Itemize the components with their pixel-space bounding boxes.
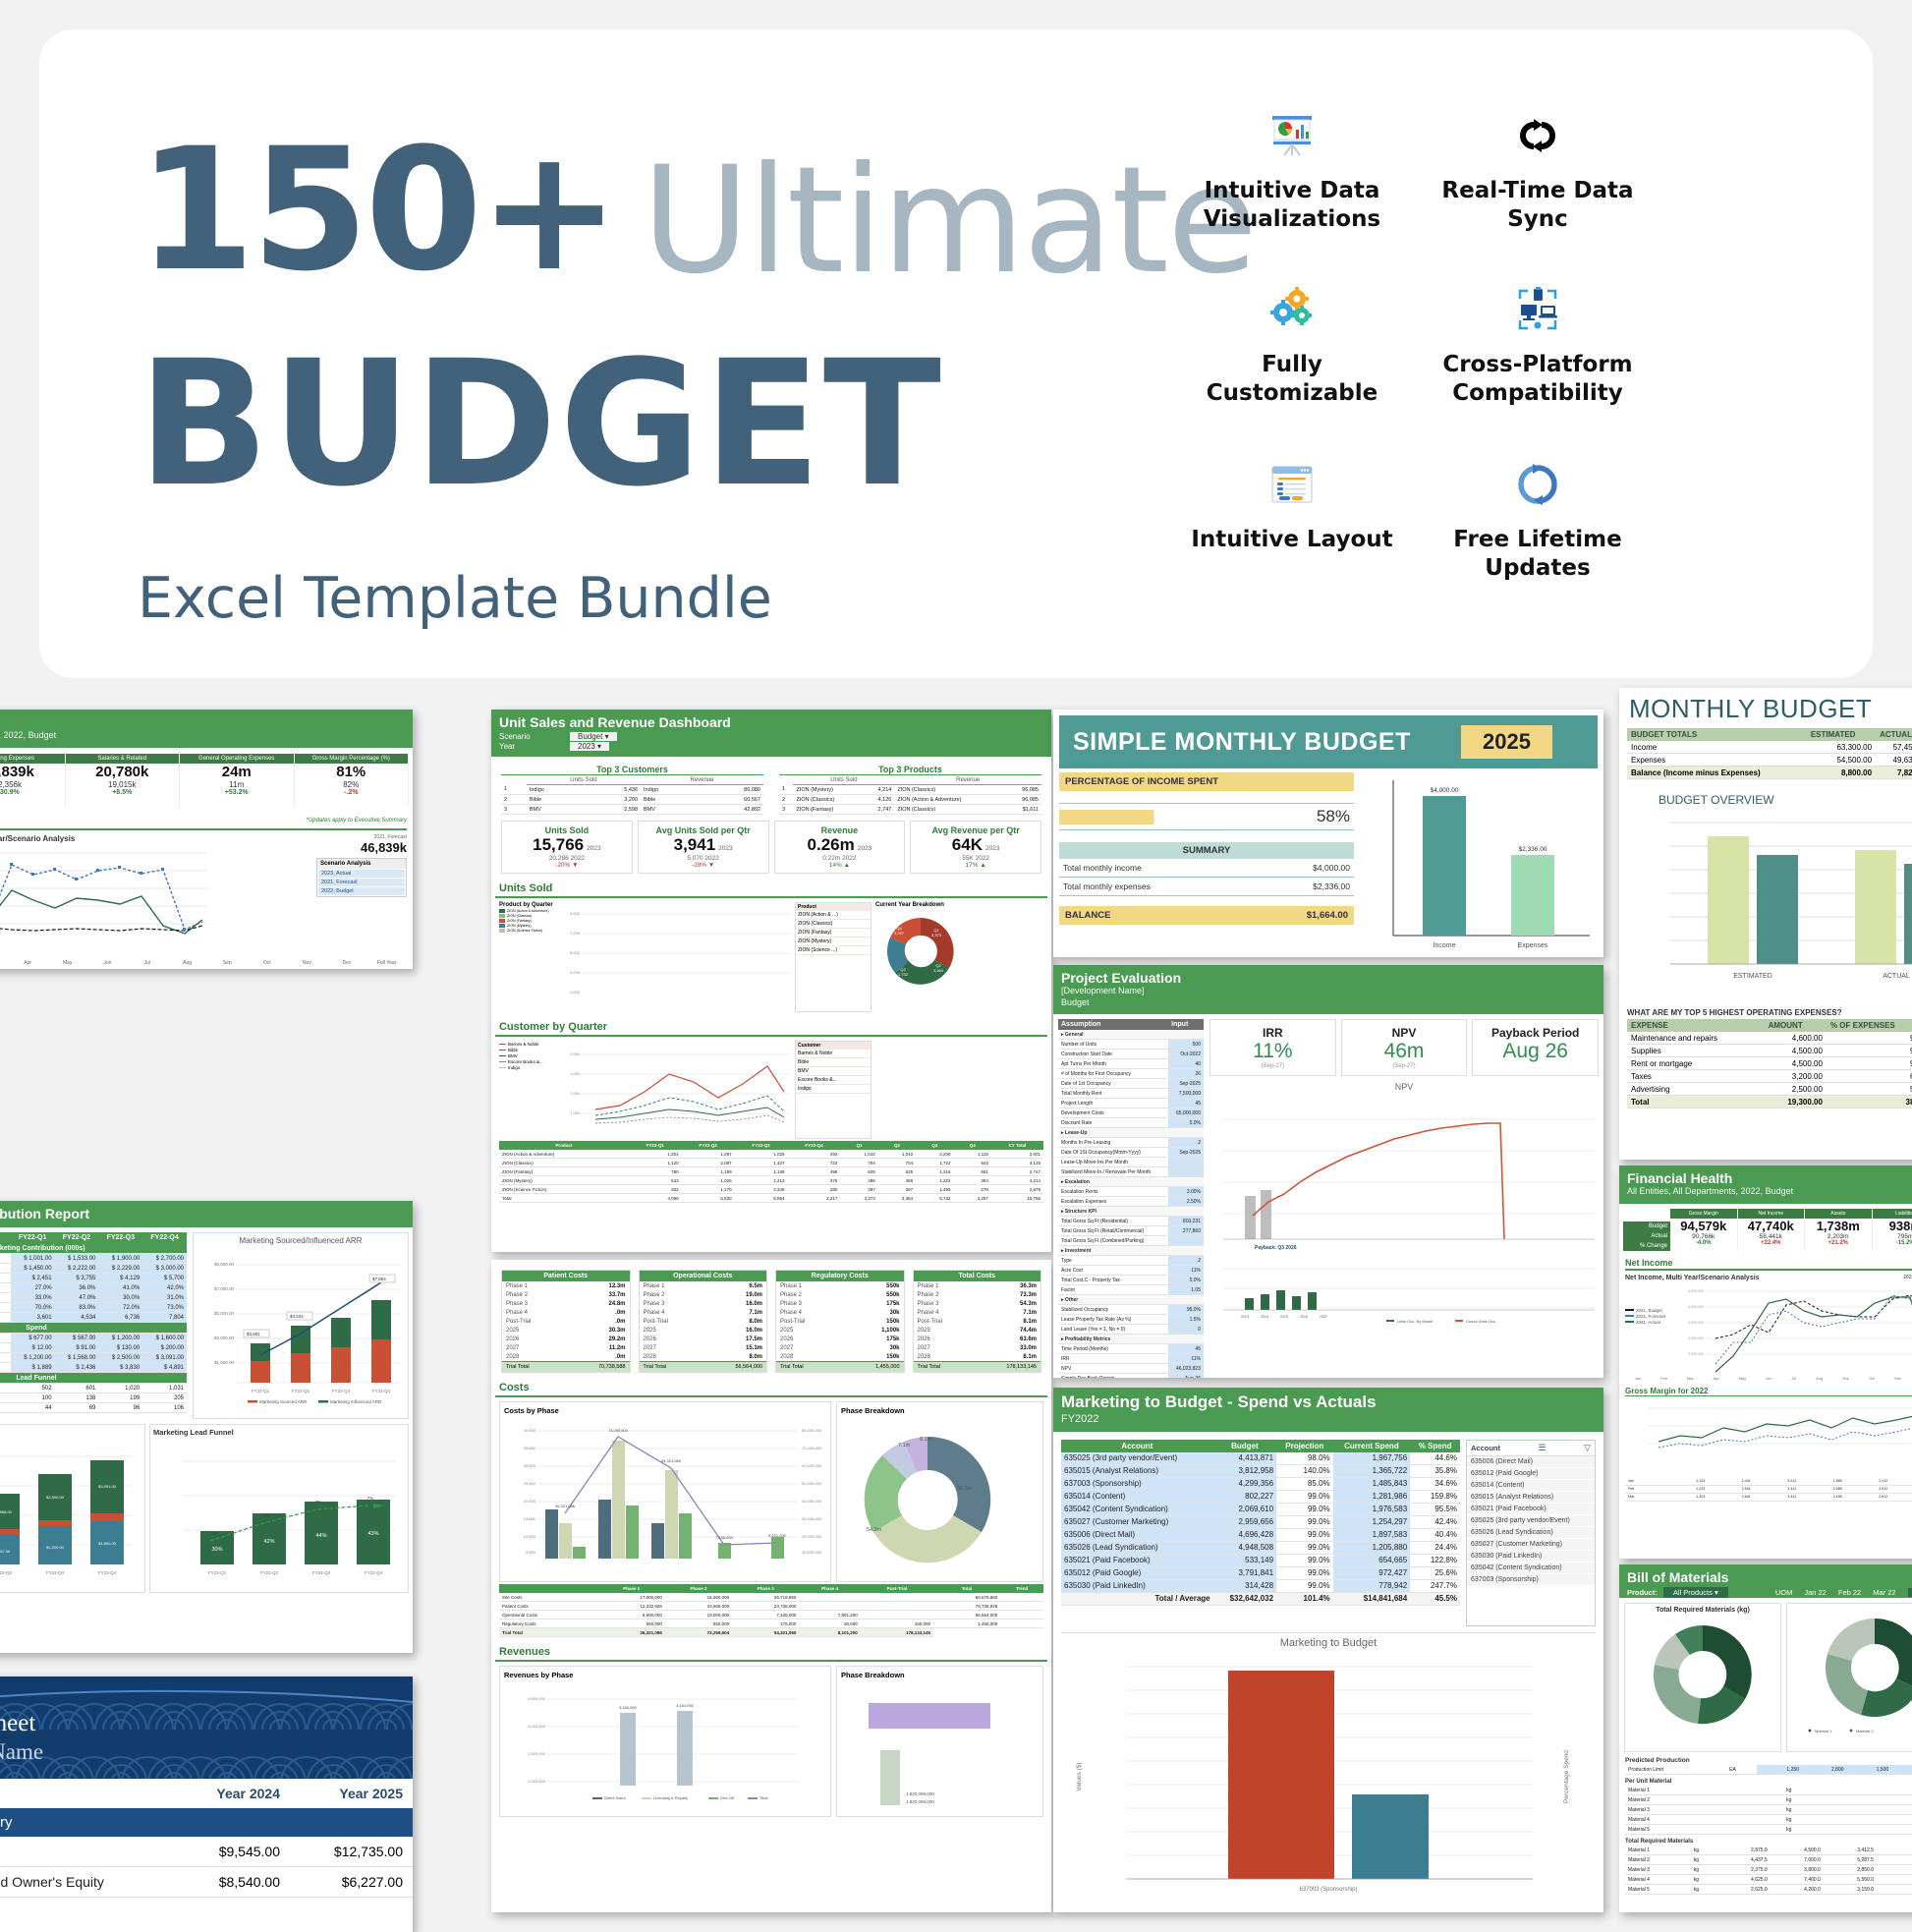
net-income-multi-year-chart: 4,500,0004,000,0003,500,0003,000,0002,50… xyxy=(1676,1281,1912,1376)
cell: 704 xyxy=(878,1159,916,1167)
cell: 8,800.00 xyxy=(1807,767,1876,779)
assumption-input[interactable]: 2 xyxy=(1168,1138,1204,1148)
revenues-by-phase-title: Revenues by Phase xyxy=(504,1671,826,1679)
assumption-input[interactable]: 11% xyxy=(1168,1354,1204,1364)
month-label: Sep xyxy=(1842,1376,1849,1381)
feature-grid: Intuitive Data Visualizations Real-Time … xyxy=(1169,106,1660,617)
assumption-input[interactable]: 65,000,000 xyxy=(1168,1108,1204,1118)
assumption-input[interactable]: Sep-2025 xyxy=(1168,1079,1204,1089)
cell: ZION (Classics) xyxy=(894,805,1005,815)
assumption-group[interactable]: ▸ Lease-Up xyxy=(1058,1128,1204,1138)
slicer-item[interactable]: 635026 (Lead Syndication) xyxy=(1467,1527,1595,1539)
cost-value: 63.6m xyxy=(1020,1336,1037,1342)
scenario-item[interactable]: 2022, Budget xyxy=(318,887,405,895)
cost-value: 150k xyxy=(886,1319,899,1325)
panel-monthly-budget[interactable]: MONTHLY BUDGET BUDGET TOTALSESTIMATEDACT… xyxy=(1619,688,1912,1160)
table-row: Expenses54,500.0049,630.00 xyxy=(1627,754,1912,767)
legend-label: 2021, Actual xyxy=(1636,1320,1660,1325)
cell: 83.0% xyxy=(55,1303,99,1313)
cost-label: 2026 xyxy=(918,1336,930,1342)
cell: 3,412.5 xyxy=(1824,1846,1877,1855)
assumption-label: Project Length xyxy=(1058,1099,1168,1108)
total-label: Trial Total xyxy=(506,1364,530,1370)
cell: 9.1% xyxy=(1827,1057,1912,1070)
kpi-budget: 94,579k xyxy=(1670,1219,1737,1233)
kpi-change: +8.5% xyxy=(66,789,180,796)
table-row: Closed Won Sales446996106 xyxy=(0,1403,187,1413)
product-by-quarter-title: Product by Quarter xyxy=(499,902,566,908)
cell: 4,500.00 xyxy=(1765,1045,1827,1057)
product-filter-list[interactable]: ZION (Action & ...)ZION (Classics)ZION (… xyxy=(796,911,871,955)
assumption-group[interactable]: ▸ Profitability Metrics xyxy=(1058,1335,1204,1344)
svg-text:7,000: 7,000 xyxy=(570,931,581,936)
kpi-actual: 90,766k xyxy=(1670,1233,1737,1240)
table-row: Material 5kg2.10 xyxy=(1625,1825,1912,1835)
assumption-input[interactable] xyxy=(1168,1236,1204,1246)
month-label: Mar xyxy=(0,960,8,966)
cell: 1,365,722 xyxy=(1333,1464,1411,1477)
cell xyxy=(861,1593,933,1602)
svg-text:25,000: 25,000 xyxy=(524,1481,536,1486)
cell: 1,120 xyxy=(629,1159,682,1167)
cost-value: 24.8m xyxy=(608,1301,625,1307)
svg-text:8,101,200: 8,101,200 xyxy=(768,1533,787,1538)
monthly-budget-title: MONTHLY BUDGET xyxy=(1619,688,1912,728)
table-row: Escalation Expenses2.50% xyxy=(1058,1197,1204,1207)
total-value: 1,455,000 xyxy=(875,1364,899,1370)
assumption-input[interactable] xyxy=(1168,1158,1204,1167)
slicer-item[interactable]: 635025 (3rd party vendor/Event) xyxy=(1467,1515,1595,1527)
assumption-input[interactable] xyxy=(1168,1167,1204,1177)
filter-item[interactable]: Escore Books &... xyxy=(796,1076,871,1085)
panel-title: Bill of Materials xyxy=(1627,1569,1912,1585)
assumption-input[interactable]: 0 xyxy=(1168,1325,1204,1335)
cost-value: 6.5m xyxy=(749,1283,762,1289)
cell: 15,766 xyxy=(991,1194,1043,1203)
cost-value: 8.0m xyxy=(749,1354,762,1360)
col-header: FY22-Q1 xyxy=(629,1141,682,1150)
kpi-change: -4.0% xyxy=(1670,1240,1737,1246)
kpi-actual: 32,356k xyxy=(0,780,65,789)
assumption-input[interactable]: 11% xyxy=(1168,1266,1204,1276)
svg-text:5,000: 5,000 xyxy=(570,950,581,955)
cell: kg xyxy=(1691,1865,1717,1875)
cell xyxy=(861,1602,933,1611)
section-spend: Spend xyxy=(0,1323,187,1334)
kpi-column: Assets1,738m2,203m+21.2% xyxy=(1805,1209,1873,1251)
panel-marketing-contribution-report[interactable]: Marketing Contribution Report FY22-Q1FY2… xyxy=(0,1201,413,1653)
cell: 1,495 xyxy=(916,1185,953,1194)
svg-text:30,000: 30,000 xyxy=(524,1463,536,1468)
table-row: Apt Turns Per Month40 xyxy=(1058,1059,1204,1069)
metric-selector[interactable]: Net Income xyxy=(1625,1258,1912,1268)
secondary-materials-donut: Material 1Material 2 xyxy=(1790,1607,1912,1736)
kpi-title: Avg Units Sold per Qtr xyxy=(641,825,766,835)
cell: $ 3,091.00 xyxy=(142,1353,187,1363)
svg-text:54,321,060: 54,321,060 xyxy=(661,1458,682,1463)
kpi-change: -15.2% xyxy=(1873,1240,1912,1246)
cost-label: Phase 2 xyxy=(918,1292,939,1298)
cost-row: 202629.2m xyxy=(502,1335,630,1343)
month-label: Dec xyxy=(327,960,367,966)
legend-swatch xyxy=(499,919,505,923)
cell: 1,281,986 xyxy=(1333,1490,1411,1503)
col-header: Trend xyxy=(1000,1584,1043,1593)
month-label: Jan xyxy=(1635,1376,1641,1381)
assumption-group[interactable]: ▸ Structure KPI xyxy=(1058,1207,1204,1217)
assumption-label: Time Period (Months) xyxy=(1058,1344,1168,1354)
svg-text:FY22-Q2: FY22-Q2 xyxy=(0,1570,13,1575)
cell: 19,000,000 xyxy=(665,1611,732,1619)
cell: 1,222 xyxy=(916,1176,953,1185)
cell: 654,665 xyxy=(1333,1554,1411,1566)
col-quarter: FY22-Q4 xyxy=(142,1232,187,1243)
assumption-input[interactable]: 5.0% xyxy=(1168,1276,1204,1285)
col-header: ACTUAL xyxy=(1876,728,1912,741)
kpi-sub: (Sep-27) xyxy=(1344,1063,1465,1069)
contribution-table[interactable]: FY22-Q1FY22-Q2FY22-Q3FY22-Q4 Marketing C… xyxy=(0,1232,187,1413)
cell: 1,026 xyxy=(682,1176,735,1185)
y2-axis-label: Percentage Spend xyxy=(1563,1750,1570,1803)
svg-text:2026: 2026 xyxy=(1300,1315,1308,1319)
cell: 9.3% xyxy=(1827,1032,1912,1045)
kpi-column: Salaries & Related20,780k19,015k+8.5% xyxy=(66,754,181,807)
cell: 34.6% xyxy=(1410,1477,1460,1490)
panel-project-evaluation[interactable]: Project Evaluation [Development Name] Bu… xyxy=(1053,965,1603,1378)
cell: 843 xyxy=(954,1159,991,1167)
cell-2025: $6,227.00 xyxy=(290,1867,413,1897)
balance-sheet-rows: Total Assets$9,545.00$12,735.00Total Lia… xyxy=(0,1837,413,1898)
cost-row: Post-Trial8.1m xyxy=(914,1317,1041,1326)
svg-text:1,732: 1,732 xyxy=(898,972,909,977)
svg-text:7%: 7% xyxy=(367,1496,374,1501)
scenario-item[interactable]: 2021, Forecast xyxy=(318,879,405,886)
cell: 4,126 xyxy=(991,1159,1043,1167)
panel-unit-sales-dashboard[interactable]: Unit Sales and Revenue Dashboard Scenari… xyxy=(491,710,1051,1252)
month-label: Jun xyxy=(1766,1376,1771,1381)
assumption-label: Stabilized Move-In / Renovate Per Month xyxy=(1058,1167,1168,1177)
table-row: Site Costs17,000,00016,960,00026,719,860… xyxy=(499,1593,1043,1602)
cell: 2,348 xyxy=(735,1185,788,1194)
cell: 42.0% xyxy=(142,1283,187,1293)
svg-text:Marketing Influenced ARR: Marketing Influenced ARR xyxy=(330,1399,382,1404)
cell: 2,800 xyxy=(1802,1765,1847,1775)
cell: 73,259,604 xyxy=(665,1628,732,1637)
cell: 1,138 xyxy=(735,1167,788,1176)
cell: $ 1,900.00 xyxy=(98,1254,142,1264)
cell: 1,026 xyxy=(735,1150,788,1159)
cell: Maintenance and repairs xyxy=(1627,1032,1765,1045)
cost-label: 2026 xyxy=(506,1336,519,1342)
column-header: Feb 22 xyxy=(1838,1588,1861,1597)
table-row: Factor1.05 xyxy=(1058,1285,1204,1295)
scenario-list[interactable]: 2023, Actual2021, Forecast2022, Budget xyxy=(317,870,406,895)
slicer-item[interactable]: 637003 (Sponsorship) xyxy=(1467,1574,1595,1586)
cost-row: 2026175k xyxy=(776,1335,904,1343)
cost-value: 150k xyxy=(886,1354,899,1360)
balance-sheet-col-headers: Year 2024 Year 2025 xyxy=(0,1779,413,1808)
balance-value: $1,664.00 xyxy=(1307,910,1348,921)
svg-text:Material 1: Material 1 xyxy=(1815,1729,1832,1733)
cell: 1,170 xyxy=(682,1185,735,1194)
cell: 99.0% xyxy=(1276,1579,1333,1592)
kpi-budget: 81% xyxy=(295,764,409,780)
kpi-header: Gross Margin xyxy=(1670,1209,1737,1219)
svg-text:Marketing Sourced ARR: Marketing Sourced ARR xyxy=(259,1399,308,1404)
cost-value: .0m xyxy=(615,1319,625,1325)
cell: 36,321,086 xyxy=(598,1628,665,1637)
svg-text:10,000: 10,000 xyxy=(524,1534,536,1539)
svg-text:3,500,000: 3,500,000 xyxy=(528,1696,546,1701)
assumption-input[interactable]: 803,231 xyxy=(1168,1217,1204,1226)
filter-item[interactable]: ZION (Mystery) xyxy=(796,938,871,946)
cell: 643 xyxy=(629,1176,682,1185)
cost-row: 202617.5m xyxy=(640,1335,767,1343)
row-label: Total monthly expenses xyxy=(1063,881,1151,891)
assumption-input[interactable]: 2.50% xyxy=(1168,1197,1204,1207)
col-quarter: FY22-Q3 xyxy=(98,1232,142,1243)
product-dropdown[interactable]: All Products ▾ xyxy=(1663,1587,1728,1598)
kpi-header: Gross Margin Percentage (%) xyxy=(295,754,409,764)
assumption-input[interactable]: 45 xyxy=(1168,1344,1204,1354)
assumption-input[interactable]: 46,023,823 xyxy=(1168,1364,1204,1374)
panel-bill-of-materials[interactable]: Bill of Materials Product: All Products … xyxy=(1619,1564,1912,1912)
filter-item[interactable]: ZION (Action & ...) xyxy=(796,911,871,920)
svg-text:Material 2: Material 2 xyxy=(1856,1729,1874,1733)
cell: 635030 (Paid LinkedIn) xyxy=(1061,1579,1213,1592)
panel-marketing-to-budget[interactable]: Marketing to Budget - Spend vs Actuals F… xyxy=(1053,1388,1603,1912)
kpi-actual: 19,015k xyxy=(66,780,180,789)
scenario-item[interactable]: 2023, Actual xyxy=(318,870,405,878)
cost-value: 8.0m xyxy=(749,1319,762,1325)
cell: 2,747 xyxy=(864,805,894,815)
kpi-value: 11% xyxy=(1212,1040,1333,1063)
svg-text:FY22-Q3: FY22-Q3 xyxy=(332,1389,351,1393)
assumption-input[interactable]: 95.0% xyxy=(1168,1305,1204,1315)
cell: 2.20 xyxy=(1847,1786,1912,1795)
assumption-group[interactable]: ▸ General xyxy=(1058,1030,1204,1040)
cell: kg xyxy=(1783,1825,1847,1835)
row-label: Company New Logo ARR xyxy=(0,1313,11,1323)
cost-label: 2026 xyxy=(780,1336,793,1342)
assumption-input[interactable]: 1.05 xyxy=(1168,1285,1204,1295)
svg-text:4,500,000: 4,500,000 xyxy=(1688,1289,1704,1293)
assumption-input[interactable]: 45 xyxy=(1168,1099,1204,1108)
slicer-item[interactable]: 635021 (Paid Facebook) xyxy=(1467,1504,1595,1515)
assumption-group[interactable]: ▸ Other xyxy=(1058,1295,1204,1305)
costs-by-phase-chart: 40,00035,00030,00025,00020,00015,00010,0… xyxy=(504,1415,826,1572)
cost-label: Phase 1 xyxy=(780,1283,802,1289)
spend-table[interactable]: AccountBudgetProjectionCurrent Spend% Sp… xyxy=(1061,1440,1460,1606)
cell xyxy=(1000,1611,1043,1619)
marketing-lead-funnel-chart: 30%42%44%43% 5%6%7%7% FY22-Q1FY22-Q2FY22… xyxy=(153,1437,399,1584)
assumption-input[interactable]: 40 xyxy=(1168,1059,1204,1069)
cell: 498 xyxy=(788,1167,841,1176)
top-expenses-question: WHAT ARE MY TOP 5 HIGHEST OPERATING EXPE… xyxy=(1627,1008,1912,1017)
product-by-quarter-chart: 9,0007,0005,0003,0001,000 FY22-Q1FY22-Q2… xyxy=(566,902,792,1012)
kpi-actual: 795m xyxy=(1873,1233,1912,1240)
cell: 9.1% xyxy=(1827,1045,1912,1057)
cell: 99.0% xyxy=(1276,1554,1333,1566)
kpi-prev-row: 55K 2022 xyxy=(913,855,1039,862)
panel-financial-health-right[interactable]: Financial Health All Entities, All Depar… xyxy=(1619,1165,1912,1559)
assumption-input[interactable]: Sep-2025 xyxy=(1168,1148,1204,1158)
assumption-input[interactable]: Oct-2022 xyxy=(1168,1050,1204,1059)
cost-label: Post-Trial xyxy=(644,1319,668,1325)
filter-item[interactable]: ZION (Science ...) xyxy=(796,946,871,955)
assumption-label: Development Costs xyxy=(1058,1108,1168,1118)
units-sold-section: Units Sold xyxy=(495,880,1047,898)
svg-text:$4,534: $4,534 xyxy=(290,1314,304,1319)
customer-filter-title[interactable]: Customer xyxy=(796,1042,871,1050)
table-row: Number of Units500 xyxy=(1058,1040,1204,1050)
cell: 99.0% xyxy=(1276,1541,1333,1554)
row-label: Marketing Influenced ARR% xyxy=(0,1293,11,1303)
year-dropdown[interactable]: 2023 ▾ xyxy=(570,742,609,751)
assumption-input[interactable]: 7,500,000 xyxy=(1168,1089,1204,1099)
cell: 3,150.0 xyxy=(1824,1885,1877,1895)
total-required-materials-title: Total Required Materials xyxy=(1625,1839,1912,1845)
assumption-group[interactable]: ▸ Investment xyxy=(1058,1246,1204,1256)
cell: 2,217 xyxy=(788,1194,841,1203)
slicer-item[interactable]: 635027 (Customer Marketing) xyxy=(1467,1539,1595,1551)
chart1-badge: 2021, Forecast xyxy=(1903,1275,1912,1281)
cell: 635012 (Paid Google) xyxy=(1061,1566,1213,1579)
assumption-group[interactable]: ▸ Escalation xyxy=(1058,1177,1204,1187)
col-header: Current Spend xyxy=(1333,1440,1411,1452)
product-filter-title[interactable]: Product xyxy=(796,903,871,911)
table-row: Material 4kg4,625.07,400.05,550.017,575.… xyxy=(1625,1875,1912,1885)
assumption-label: Factor xyxy=(1058,1285,1168,1295)
assumption-label: Apt Turns Per Month xyxy=(1058,1059,1168,1069)
feature-real-time-data-sync: Real-Time Data Sync xyxy=(1415,106,1660,268)
slicer-item[interactable]: 635012 (Paid Google) xyxy=(1467,1468,1595,1480)
scenario-dropdown[interactable]: Budget ▾ xyxy=(570,732,617,741)
cost-label: Phase 1 xyxy=(506,1283,528,1289)
top-customers-title: Top 3 Customers xyxy=(501,765,763,775)
table-row: Date Of 1St Occupancy(Mmm-Yyyy)Sep-2025 xyxy=(1058,1148,1204,1158)
income-data-label: $4,000.00 xyxy=(1431,787,1459,794)
cell: 314,428 xyxy=(1213,1579,1276,1592)
cell: 3,200 xyxy=(586,795,641,805)
svg-text:3,297: 3,297 xyxy=(894,931,905,936)
filter-item[interactable]: ZION (Classics) xyxy=(796,920,871,929)
kpi-budget: 46,839k xyxy=(0,764,65,780)
cell: 30,000 xyxy=(799,1619,860,1628)
cell: BMV xyxy=(641,805,700,815)
slicer-item[interactable]: 635015 (Analyst Relations) xyxy=(1467,1492,1595,1504)
filter-item[interactable]: Indigo xyxy=(796,1085,871,1094)
assumption-input[interactable]: 5.0% xyxy=(1168,1118,1204,1128)
cell: $ 200.00 xyxy=(142,1343,187,1353)
chart1-title: Operating Expenses, Multi Year/Scenario … xyxy=(0,834,312,843)
cost-value: 8.1m xyxy=(1023,1354,1037,1360)
cost-row: Phase 2550k xyxy=(776,1290,904,1299)
svg-text:30%: 30% xyxy=(211,1547,222,1553)
assumptions-table[interactable]: Assumption Input ▸ GeneralNumber of Unit… xyxy=(1058,1019,1204,1378)
cell: Supplies xyxy=(1627,1045,1765,1057)
panel-costs-phases[interactable]: Patient CostsPhase 112.3mPhase 233.7mPha… xyxy=(491,1260,1051,1912)
cell: 6,894 xyxy=(735,1194,788,1203)
month-label: Nov xyxy=(287,960,327,966)
cell: 1,967,756 xyxy=(1333,1452,1411,1465)
legend-swatch xyxy=(1625,1309,1634,1311)
slicer-multiselect-icon[interactable]: ☰ xyxy=(1539,1443,1546,1453)
slicer-list[interactable]: 635006 (Direct Mail)635012 (Paid Google)… xyxy=(1467,1456,1595,1586)
rev-phase-breakdown-title: Phase Breakdown xyxy=(841,1671,1039,1679)
table-row: 3ZION (Fantasy)2,747ZION (Classics)$1,61… xyxy=(779,805,1041,815)
cell: 9,975.0 xyxy=(1877,1885,1912,1895)
table-row: Operational Costs6,500,00019,000,0007,10… xyxy=(499,1611,1043,1619)
cell: Balance (Income minus Expenses) xyxy=(1627,767,1807,779)
legend-item: Bible xyxy=(499,1048,566,1052)
col-header: CY Total xyxy=(991,1141,1043,1150)
table-row: Rent or mortgage4,500.009.1% xyxy=(1627,1057,1912,1070)
table-row: 635021 (Paid Facebook)533,14999.0%654,66… xyxy=(1061,1554,1460,1566)
month-label: Aug xyxy=(167,960,207,966)
cell: 85.0% xyxy=(1276,1477,1333,1490)
table-row: New Opportunities100138199205 xyxy=(0,1393,187,1403)
col-header: FY22-Q3 xyxy=(735,1141,788,1150)
assumption-input[interactable]: 3.00% xyxy=(1168,1187,1204,1197)
filter-item[interactable]: ZION (Fantasy) xyxy=(796,929,871,938)
cell: 502 xyxy=(11,1384,55,1393)
assumption-label: Total Gross Sq Ft (Combined/Parking) xyxy=(1058,1236,1168,1246)
slicer-item[interactable]: 635030 (Paid LinkedIn) xyxy=(1467,1551,1595,1563)
kpi-change: -.2% xyxy=(295,789,409,796)
cell: Total xyxy=(499,1194,629,1203)
cell: 302 xyxy=(629,1185,682,1194)
assumption-input[interactable]: 26 xyxy=(1168,1069,1204,1079)
cost-value: 54.3m xyxy=(1020,1301,1037,1307)
table-row: Total Cost,C - Property Tax5.0% xyxy=(1058,1276,1204,1285)
slicer-item[interactable]: 635014 (Content) xyxy=(1467,1480,1595,1492)
table-row: Marketing Influenced ARR$ 1,450.00$ 2,22… xyxy=(0,1264,187,1274)
filter-item[interactable]: BMV xyxy=(796,1067,871,1076)
assumption-input[interactable]: 500 xyxy=(1168,1040,1204,1050)
svg-text:FY22-Q3: FY22-Q3 xyxy=(312,1570,331,1575)
table-row: Program Spend$ 1,200.00$ 1,568.00$ 2,500… xyxy=(0,1353,187,1363)
cell: 10,787.5 xyxy=(1877,1846,1912,1855)
panel-simple-monthly-budget[interactable]: SIMPLE MONTHLY BUDGET 2025 PERCENTAGE OF… xyxy=(1053,710,1603,957)
slicer-item[interactable]: 635042 (Content Syndication) xyxy=(1467,1563,1595,1574)
svg-text:$567.00: $567.00 xyxy=(0,1549,11,1554)
year-label: Year xyxy=(499,742,570,751)
assumption-input[interactable]: Aug-26 xyxy=(1168,1374,1204,1378)
filter-item[interactable]: Barnes & Noble xyxy=(796,1050,871,1058)
expenses-category-label: Expenses xyxy=(1518,942,1548,949)
panel-balance-sheet[interactable]: Balance Sheet Company Name Year 2024 Yea… xyxy=(0,1676,413,1932)
filter-item[interactable]: Bible xyxy=(796,1058,871,1067)
cell: 1,254,297 xyxy=(1333,1515,1411,1528)
cell: 40.4% xyxy=(1410,1528,1460,1541)
cell: 6,500,000 xyxy=(598,1611,665,1619)
chart2-title: Marketing Expenditures - FY22 xyxy=(0,1428,141,1437)
cell: ZION (Mystery) xyxy=(499,1176,629,1185)
slicer-item[interactable]: 635006 (Direct Mail) xyxy=(1467,1456,1595,1468)
customer-filter-list[interactable]: Barnes & NobleBibleBMVEscore Books &...I… xyxy=(796,1050,871,1094)
assumption-input[interactable]: 2 xyxy=(1168,1256,1204,1266)
per-unit-material-table: Material 1kg2.20Material 2kg3.50Material… xyxy=(1625,1786,1912,1835)
cost-total-row: Trial Total178,133,145 xyxy=(914,1361,1041,1372)
cost-card: Operational CostsPhase 16.5mPhase 219.0m… xyxy=(639,1270,768,1373)
assumption-input[interactable]: 277,860 xyxy=(1168,1226,1204,1236)
slicer-clear-filter-icon[interactable]: ▽ xyxy=(1584,1443,1591,1453)
cell: 2,875.0 xyxy=(1717,1846,1771,1855)
panel-financial-health-left[interactable]: Financial Health All Entities, All Depar… xyxy=(0,710,413,969)
row-label: Marketing Qualified Leads (MQLs) xyxy=(0,1384,11,1393)
assumption-input[interactable]: 1.5% xyxy=(1168,1315,1204,1325)
